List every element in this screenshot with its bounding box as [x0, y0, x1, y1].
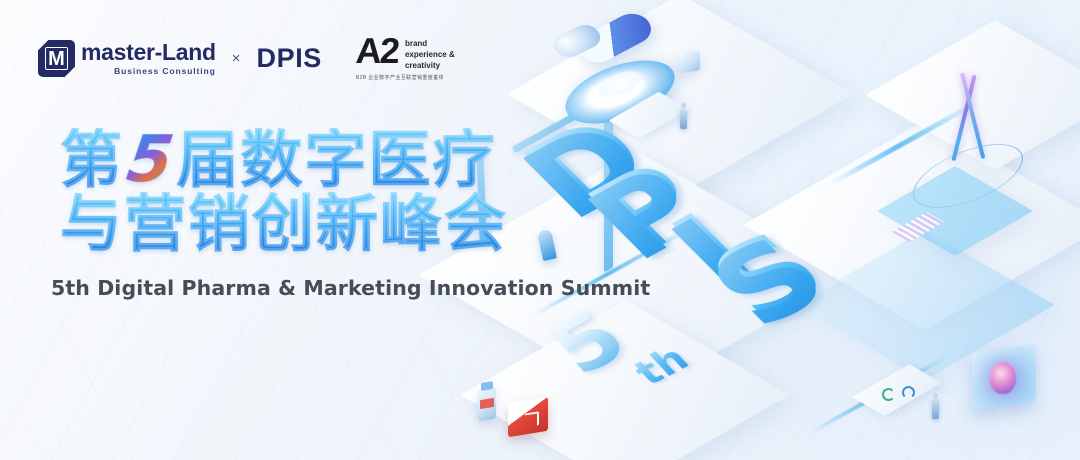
master-land-m-letter: M [38, 40, 75, 77]
a2-mark-icon: A2 [355, 36, 399, 67]
event-banner: D P I S 5 th M [0, 0, 1080, 460]
a2-logo-row: A2 brand experience & creativity [356, 36, 455, 71]
a2-tagline-line-2: experience & [405, 50, 455, 59]
master-land-mark-icon: M [38, 40, 75, 77]
first-aid-kit [508, 397, 548, 437]
specimen-core-glow [990, 362, 1016, 394]
title-line-2: 与营销创新峰会 [60, 192, 508, 256]
event-title: 第 5 届数字医疗 与营销创新峰会 [60, 128, 508, 256]
a2-tagline-line-3: creativity [405, 61, 440, 70]
title-prefix: 第 [60, 128, 124, 192]
logo-row: M master-Land Business Consulting × DPIS… [38, 36, 455, 81]
dpis-wordmark[interactable]: DPIS [257, 43, 322, 74]
a2-logo[interactable]: A2 brand experience & creativity B2B 企业数… [356, 36, 455, 81]
isometric-3d-scene: D P I S 5 th [520, 0, 1080, 460]
master-land-text: master-Land Business Consulting [81, 41, 216, 76]
small-cube-prop [678, 50, 700, 73]
logo-separator-x: × [232, 50, 241, 67]
master-land-name: master-Land [81, 41, 216, 64]
human-figure-bottom [932, 398, 939, 419]
a2-tagline: brand experience & creativity [405, 36, 455, 71]
title-line-1: 第 5 届数字医疗 [60, 128, 508, 192]
a2-chinese-tagline: B2B 企业数字产业互联营销重度垂体 [356, 74, 455, 81]
master-land-tagline: Business Consulting [81, 67, 216, 76]
master-land-logo[interactable]: M master-Land Business Consulting [38, 40, 216, 77]
event-subtitle: 5th Digital Pharma & Marketing Innovatio… [51, 276, 650, 300]
title-suffix: 届数字医疗 [177, 128, 497, 192]
title-edition-number: 5 [124, 128, 180, 192]
medicine-bottle [478, 387, 496, 422]
gauge-green-icon [882, 388, 895, 401]
a2-tagline-line-1: brand [405, 39, 427, 48]
gauge-blue-icon [902, 386, 915, 399]
